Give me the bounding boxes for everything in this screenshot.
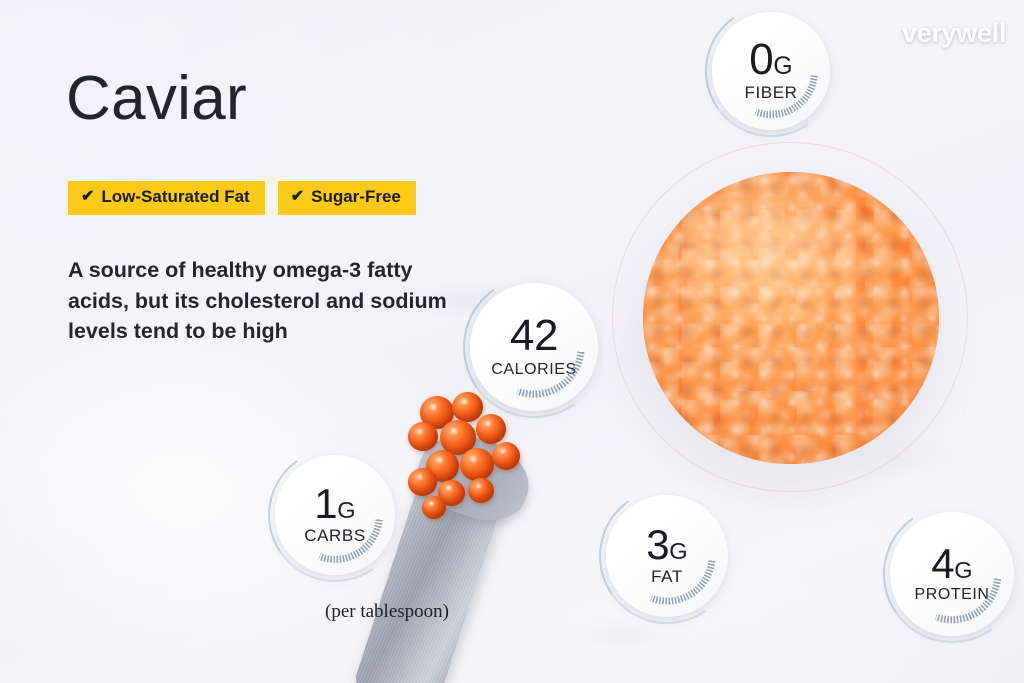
verywell-logo[interactable]: verywell — [902, 18, 1006, 49]
caviar-roe-mass — [643, 172, 939, 464]
description-text: A source of healthy omega-3 fatty acids,… — [68, 255, 478, 347]
nutrition-badge-calories: 42 CALORIES — [470, 283, 598, 411]
attribute-tag-list: ✔ Low-Saturated Fat ✔ Sugar-Free — [68, 181, 416, 215]
nutrition-badge-fat: 3G FAT — [606, 495, 728, 617]
check-icon: ✔ — [291, 189, 304, 205]
page-title: Caviar — [66, 68, 247, 130]
caviar-pearl — [422, 496, 446, 519]
caviar-pearl — [408, 422, 438, 451]
tag-label: Low-Saturated Fat — [101, 188, 249, 207]
tag-low-saturated-fat: ✔ Low-Saturated Fat — [68, 181, 265, 215]
caviar-pearl — [408, 468, 437, 496]
check-icon: ✔ — [81, 189, 94, 205]
caviar-pearl — [492, 442, 520, 470]
nutrition-badge-protein: 4G PROTEIN — [890, 512, 1014, 636]
caviar-pearl — [460, 448, 494, 481]
roe-gloss — [643, 172, 939, 464]
nutrition-badge-fiber: 0G FIBER — [712, 12, 830, 130]
caviar-pearl — [452, 392, 483, 422]
nutrition-infographic: verywell Caviar ✔ Low-Saturated Fat ✔ Su… — [0, 0, 1024, 683]
nutrition-badge-carbs: 1G CARBS — [275, 455, 395, 575]
serving-size-note: (per tablespoon) — [325, 601, 449, 623]
tag-label: Sugar-Free — [311, 188, 401, 207]
tag-sugar-free: ✔ Sugar-Free — [278, 181, 416, 215]
caviar-pearl — [468, 478, 494, 503]
caviar-pearl — [476, 414, 506, 444]
